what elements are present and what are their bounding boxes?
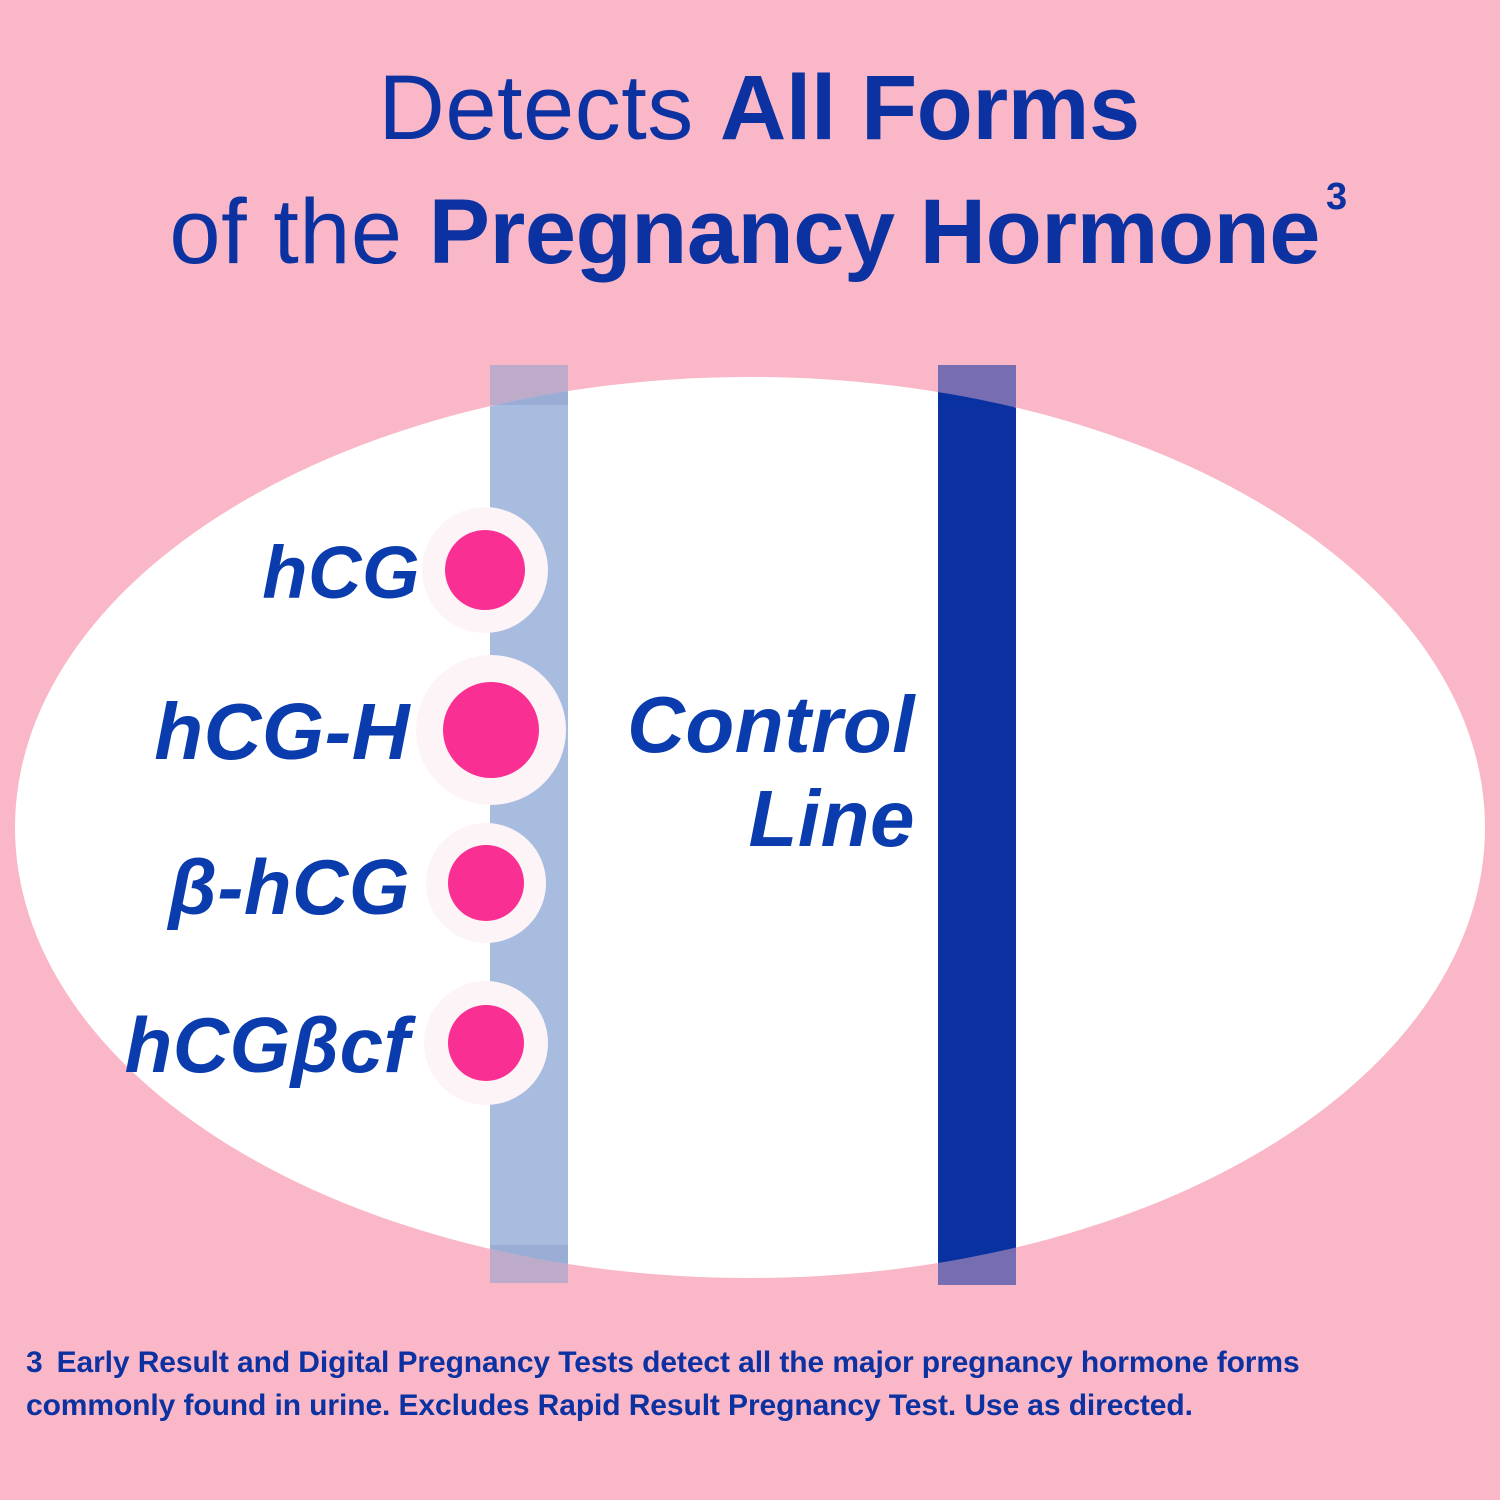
- control-line-caption-word-2: Line: [600, 772, 915, 866]
- control-line-band-overhang-top: [938, 365, 1016, 407]
- page-title: Detects All Forms of the Pregnancy Hormo…: [0, 62, 1500, 278]
- headline-line-1-light: Detects: [378, 57, 719, 159]
- headline-line-2-light: of the: [169, 181, 428, 283]
- hormone-row: hCG: [0, 530, 420, 615]
- promo-graphic: Detects All Forms of the Pregnancy Hormo…: [0, 0, 1500, 1500]
- pink-dot-halo: [426, 823, 546, 943]
- pink-dot-icon: [448, 1005, 524, 1081]
- pink-dot-halo: [416, 655, 566, 805]
- hormone-label-hcg-h: hCG-H: [154, 686, 410, 778]
- headline-line-2-bold: Pregnancy Hormone: [429, 181, 1320, 283]
- footnote-line-1: Early Result and Digital Pregnancy Tests…: [57, 1346, 1300, 1379]
- capture-zone-band-overhang-bottom: [490, 1245, 568, 1283]
- hormone-label-hcg-beta-cf: hCGβcf: [125, 1000, 410, 1091]
- headline-line-1: Detects All Forms: [0, 62, 1500, 154]
- control-line-caption-word-1: Control: [600, 678, 915, 772]
- pink-dot-icon: [448, 845, 524, 921]
- control-line-caption: Control Line: [600, 678, 915, 867]
- headline-line-2: of the Pregnancy Hormone3: [0, 186, 1500, 278]
- footnote: 3Early Result and Digital Pregnancy Test…: [26, 1342, 1446, 1427]
- control-line-band: [938, 377, 1016, 1278]
- pink-dot-icon: [445, 530, 525, 610]
- pink-dot-halo: [424, 981, 548, 1105]
- hormone-row: hCG-H: [0, 686, 410, 778]
- pink-dot-icon: [443, 682, 539, 778]
- control-line-band-overhang-bottom: [938, 1243, 1016, 1285]
- footnote-line-2: commonly found in urine. Excludes Rapid …: [26, 1385, 1446, 1428]
- hormone-label-beta-hcg: β-hCG: [168, 842, 410, 933]
- capture-zone-band-overhang-top: [490, 365, 568, 405]
- footnote-marker: 3: [26, 1346, 43, 1379]
- headline-line-1-bold: All Forms: [720, 57, 1140, 159]
- hormone-row: β-hCG: [0, 842, 410, 933]
- footnote-reference-superscript: 3: [1326, 176, 1347, 218]
- pink-dot-halo: [422, 507, 548, 633]
- hormone-row: hCGβcf: [0, 1000, 410, 1091]
- hormone-label-hcg: hCG: [262, 530, 420, 615]
